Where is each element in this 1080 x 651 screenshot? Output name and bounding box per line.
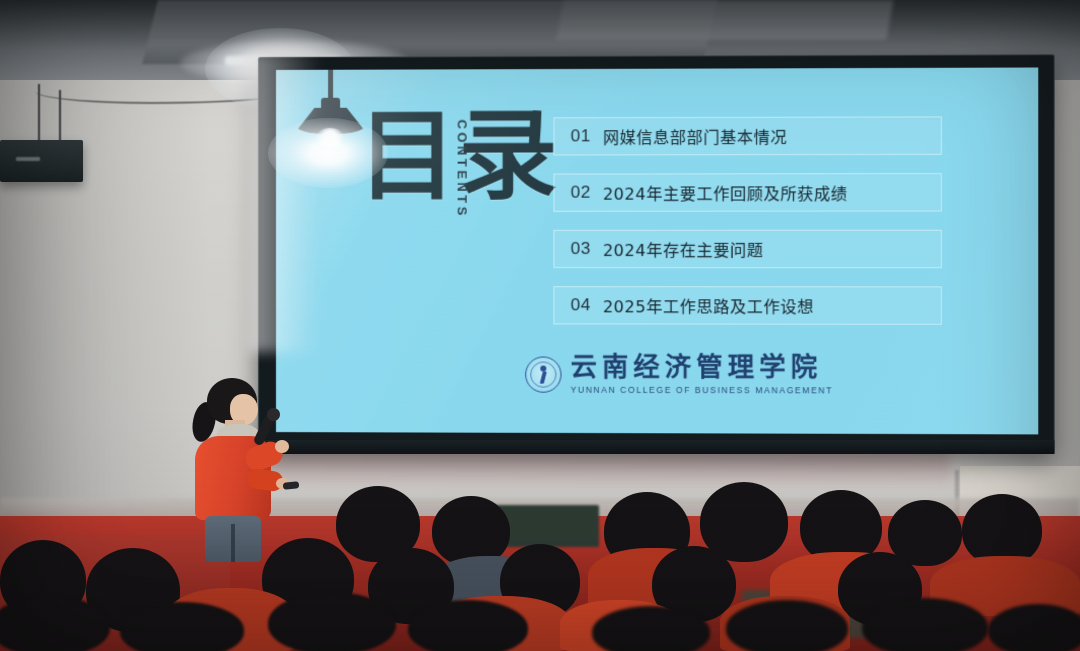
audience-head [862,598,988,651]
audience-head [592,606,710,651]
slide-surface: 目录 CONTENTS 01 网媒信息部部门基本情况 02 2024年主要工作回… [276,67,1038,434]
audience-head [988,604,1080,651]
slide-title-cn: 目录 [358,109,559,204]
list-item-label: 2025年工作思路及工作设想 [591,293,814,317]
emblem-figure [537,366,549,384]
logo-name-cn: 云南经济管理学院 [571,355,834,382]
audience-head [408,600,528,651]
contents-list: 01 网媒信息部部门基本情况 02 2024年主要工作回顾及所获成绩 03 20… [553,116,941,343]
audience-head [726,600,848,651]
list-item[interactable]: 02 2024年主要工作回顾及所获成绩 [553,173,941,212]
presentation-clicker-icon [283,481,300,490]
presenter [183,378,303,558]
audience-head [120,602,244,651]
list-item-label: 2024年主要工作回顾及所获成绩 [591,180,848,204]
university-logo: 云南经济管理学院 YUNNAN COLLEGE OF BUSINESS MANA… [525,354,833,395]
microphone-head-icon [267,408,280,421]
lamp-shade [294,108,367,134]
photo-scene: 目录 CONTENTS 01 网媒信息部部门基本情况 02 2024年主要工作回… [0,0,1080,651]
list-item[interactable]: 01 网媒信息部部门基本情况 [553,116,941,155]
list-item-number: 03 [554,239,590,259]
presenter-leg-split [231,524,235,562]
list-item-number: 02 [554,183,590,203]
ceiling-projector [0,140,83,182]
lamp-neck [321,98,340,110]
lamp-rod [328,67,333,101]
presentation-slide: 目录 CONTENTS 01 网媒信息部部门基本情况 02 2024年主要工作回… [276,67,1038,434]
list-item-number: 01 [554,126,590,146]
screen-bottom-bezel [258,440,1055,454]
projection-screen: 目录 CONTENTS 01 网媒信息部部门基本情况 02 2024年主要工作回… [258,54,1055,453]
ceiling-beam-secondary [556,0,893,40]
lamp-bulb [316,128,344,148]
list-item[interactable]: 04 2025年工作思路及工作设想 [553,286,941,325]
logo-name-en: YUNNAN COLLEGE OF BUSINESS MANAGEMENT [571,385,834,396]
logo-text-block: 云南经济管理学院 YUNNAN COLLEGE OF BUSINESS MANA… [571,355,834,396]
list-item-label: 网媒信息部部门基本情况 [591,124,787,149]
projector-brand-label [16,157,40,161]
list-item-number: 04 [554,295,590,315]
presenter-hand [275,440,289,453]
hanging-lamp-icon [290,67,370,149]
list-item-label: 2024年存在主要问题 [591,237,764,261]
audience-head [268,592,396,651]
university-emblem-icon [525,356,561,392]
list-item[interactable]: 03 2024年存在主要问题 [553,230,941,268]
slide-title-en: CONTENTS [455,120,470,219]
